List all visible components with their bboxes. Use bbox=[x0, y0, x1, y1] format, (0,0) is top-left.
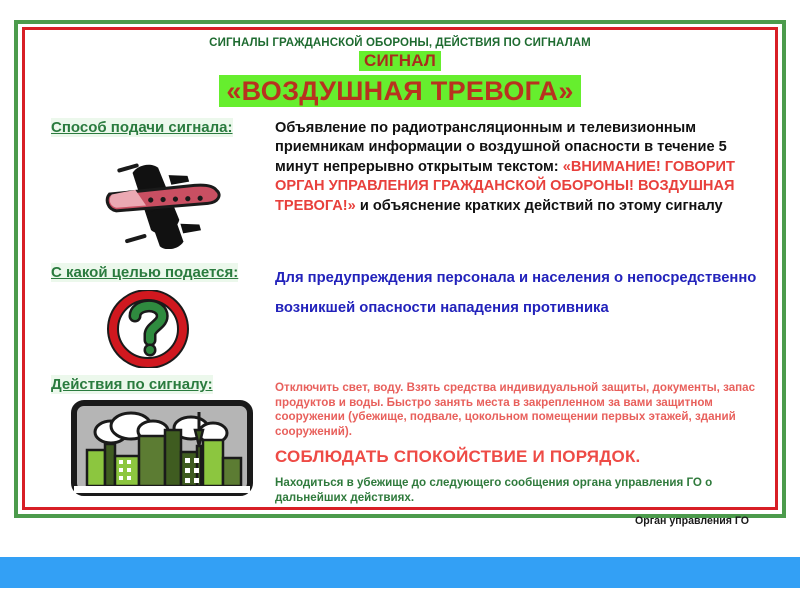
city-skyline-icon bbox=[71, 400, 253, 496]
method-text-block: Объявление по радиотрансляционным и теле… bbox=[275, 119, 761, 216]
actions-signature-text: Орган управления ГО bbox=[275, 515, 761, 527]
section-actions-left: Действия по сигналу: bbox=[35, 375, 271, 501]
poster-header: СИГНАЛЫ ГРАЖДАНСКОЙ ОБОРОНЫ, ДЕЙСТВИЯ ПО… bbox=[35, 36, 765, 112]
section-actions-label: Действия по сигналу: bbox=[51, 375, 213, 394]
section-purpose-label: С какой целью подается: bbox=[51, 263, 238, 282]
bottom-blue-bar bbox=[0, 557, 800, 588]
section-purpose-left: С какой целью подается: bbox=[35, 263, 271, 373]
section-purpose-right: Для предупреждения персонала и населения… bbox=[271, 263, 765, 323]
section-method-label: Способ подачи сигнала: bbox=[51, 118, 233, 137]
header-title-row: «ВОЗДУШНАЯ ТРЕВОГА» bbox=[35, 75, 765, 112]
header-eyebrow-text: СИГНАЛЫ ГРАЖДАНСКОЙ ОБОРОНЫ, ДЕЙСТВИЯ ПО… bbox=[35, 36, 765, 50]
section-purpose: С какой целью подается: Для предупрежден… bbox=[35, 263, 765, 373]
method-text-part2: и объяснение кратких действий по этому с… bbox=[356, 198, 723, 214]
header-signal-word: СИГНАЛ bbox=[359, 51, 441, 71]
section-actions: Действия по сигналу: bbox=[35, 375, 765, 527]
actions-stay-text: Находиться в убежище до следующего сообщ… bbox=[275, 475, 761, 505]
page-title: «ВОЗДУШНАЯ ТРЕВОГА» bbox=[219, 75, 580, 107]
poster-inner-border: СИГНАЛЫ ГРАЖДАНСКОЙ ОБОРОНЫ, ДЕЙСТВИЯ ПО… bbox=[22, 27, 778, 510]
section-actions-right: Отключить свет, воду. Взять средства инд… bbox=[271, 375, 765, 527]
actions-shout-text: СОБЛЮДАТЬ СПОКОЙСТВИЕ И ПОРЯДОК. bbox=[275, 446, 761, 468]
poster-frame: СИГНАЛЫ ГРАЖДАНСКОЙ ОБОРОНЫ, ДЕЙСТВИЯ ПО… bbox=[14, 20, 786, 518]
section-method-right: Объявление по радиотрансляционным и теле… bbox=[271, 118, 765, 216]
purpose-text: Для предупреждения персонала и населения… bbox=[275, 263, 761, 323]
airplane-icon bbox=[89, 149, 241, 249]
section-method-left: Способ подачи сигнала: bbox=[35, 118, 271, 254]
header-signal-row: СИГНАЛ bbox=[35, 51, 765, 72]
section-method: Способ подачи сигнала: bbox=[35, 118, 765, 254]
actions-instructions-text: Отключить свет, воду. Взять средства инд… bbox=[275, 381, 761, 439]
question-mark-icon bbox=[105, 290, 191, 368]
poster-content: СИГНАЛЫ ГРАЖДАНСКОЙ ОБОРОНЫ, ДЕЙСТВИЯ ПО… bbox=[25, 30, 775, 507]
